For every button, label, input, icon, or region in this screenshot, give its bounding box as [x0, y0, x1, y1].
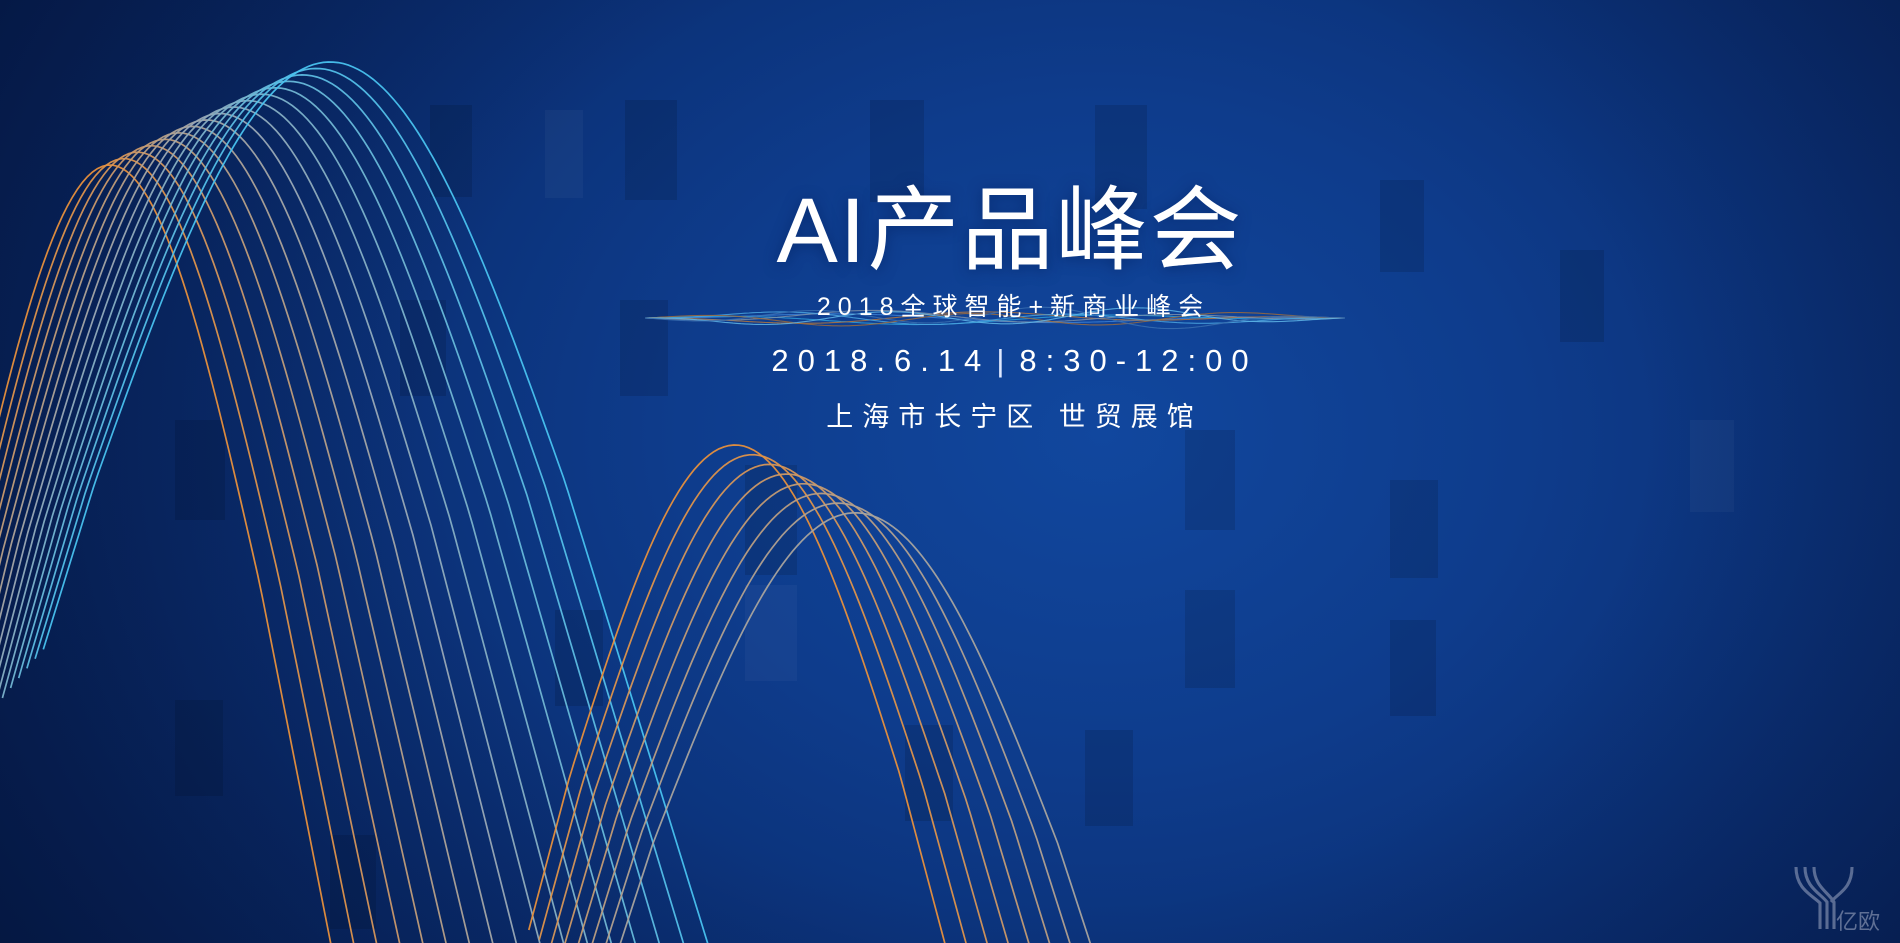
- poster-subtitle: 2018全球智能+新商业峰会: [620, 287, 1400, 323]
- datetime-separator: |: [990, 343, 1019, 379]
- event-datetime: 2018.6.14|8:30-12:00: [620, 343, 1400, 379]
- background-square-pattern: [0, 0, 1900, 943]
- yiou-watermark-logo: 亿欧: [1790, 859, 1886, 935]
- event-time: 8:30-12:00: [1019, 343, 1257, 378]
- event-venue: 上海市长宁区 世贸展馆: [620, 395, 1400, 434]
- thin-wave-divider: [0, 0, 1900, 943]
- wave-graphics: [0, 0, 1900, 943]
- watermark-text: 亿欧: [1836, 909, 1880, 934]
- page-title: AI产品峰会: [620, 185, 1400, 277]
- vignette-overlay: [0, 0, 1900, 943]
- poster-content: AI产品峰会 2018全球智能+新商业峰会 2018.6.14|8:30-12:…: [0, 0, 1900, 943]
- text-block: AI产品峰会 2018全球智能+新商业峰会 2018.6.14|8:30-12:…: [620, 185, 1400, 434]
- poster-canvas: AI产品峰会 2018全球智能+新商业峰会 2018.6.14|8:30-12:…: [0, 0, 1900, 943]
- event-date: 2018.6.14: [771, 343, 990, 378]
